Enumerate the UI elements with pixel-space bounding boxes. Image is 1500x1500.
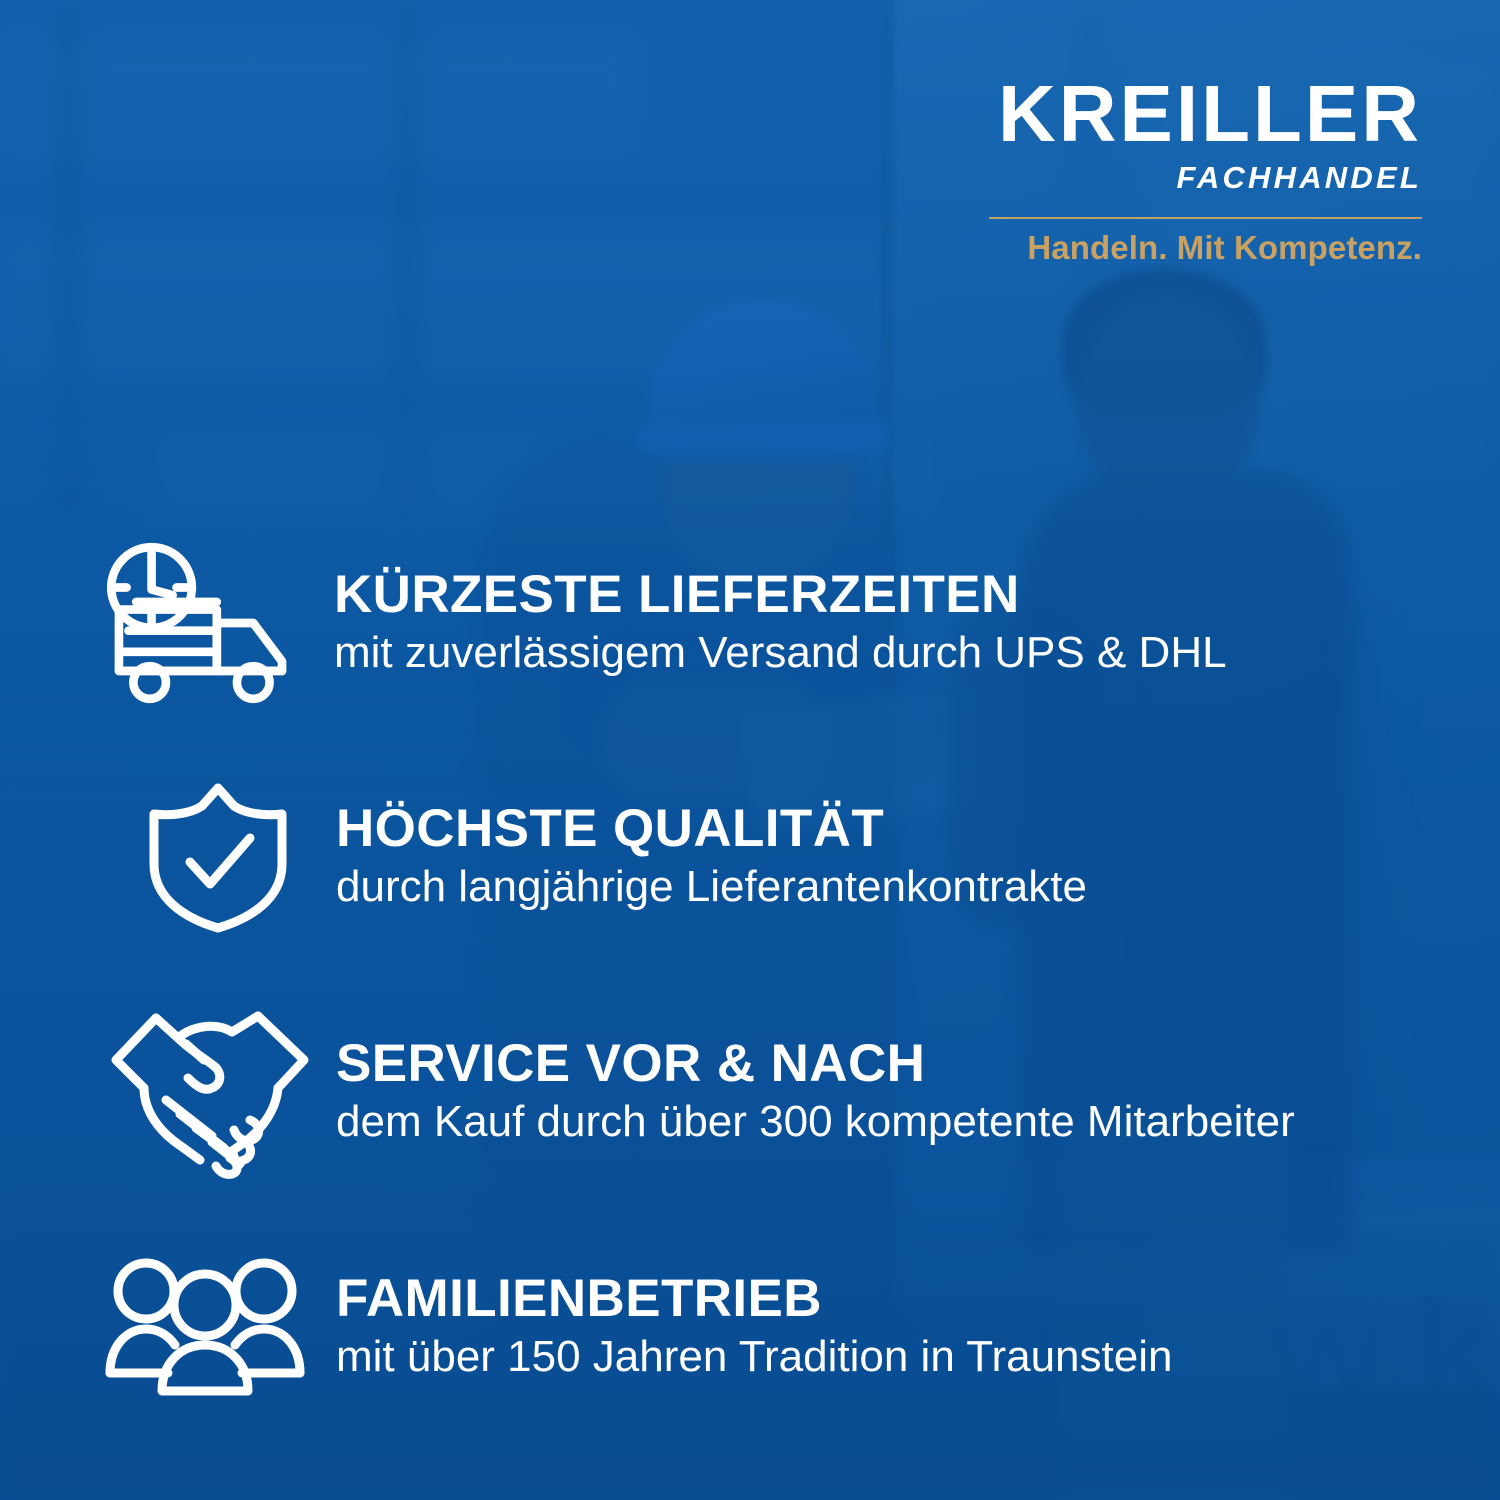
feature-item-quality: HÖCHSTE QUALITÄT durch langjährige Liefe… (0, 741, 1500, 973)
promo-poster: w.kr KREILLER FACHHANDEL Handeln. Mit Ko… (0, 0, 1500, 1500)
logo-divider (989, 217, 1422, 219)
feature-subtitle: durch langjährige Lieferantenkontrakte (336, 861, 1087, 913)
brand-logo: KREILLER FACHHANDEL Handeln. Mit Kompete… (982, 76, 1422, 267)
feature-subtitle: dem Kauf durch über 300 kompetente Mitar… (336, 1096, 1295, 1148)
shield-check-icon (96, 780, 332, 934)
feature-text-service: SERVICE VOR & NACH dem Kauf durch über 3… (332, 1036, 1295, 1148)
feature-subtitle: mit zuverlässigem Versand durch UPS & DH… (334, 627, 1227, 679)
brand-claim: Handeln. Mit Kompetenz. (982, 229, 1422, 267)
feature-text-quality: HÖCHSTE QUALITÄT durch langjährige Liefe… (332, 801, 1087, 913)
feature-title: FAMILIENBETRIEB (336, 1271, 1172, 1327)
delivery-truck-clock-icon (94, 538, 330, 708)
feature-title: HÖCHSTE QUALITÄT (336, 801, 1087, 857)
feature-item-delivery: KÜRZESTE LIEFERZEITEN mit zuverlässigem … (0, 505, 1500, 741)
brand-subname: FACHHANDEL (982, 155, 1422, 202)
feature-text-family: FAMILIENBETRIEB mit über 150 Jahren Trad… (332, 1271, 1172, 1383)
feature-title: SERVICE VOR & NACH (336, 1036, 1295, 1092)
feature-item-service: SERVICE VOR & NACH dem Kauf durch über 3… (0, 973, 1500, 1211)
people-group-icon (96, 1255, 332, 1399)
feature-title: KÜRZESTE LIEFERZEITEN (334, 567, 1227, 623)
brand-name: KREILLER (982, 76, 1422, 153)
feature-subtitle: mit über 150 Jahren Tradition in Traunst… (336, 1331, 1172, 1383)
handshake-icon (96, 1004, 332, 1180)
feature-item-family: FAMILIENBETRIEB mit über 150 Jahren Trad… (0, 1211, 1500, 1443)
feature-text-delivery: KÜRZESTE LIEFERZEITEN mit zuverlässigem … (330, 567, 1227, 679)
feature-list: KÜRZESTE LIEFERZEITEN mit zuverlässigem … (0, 505, 1500, 1443)
